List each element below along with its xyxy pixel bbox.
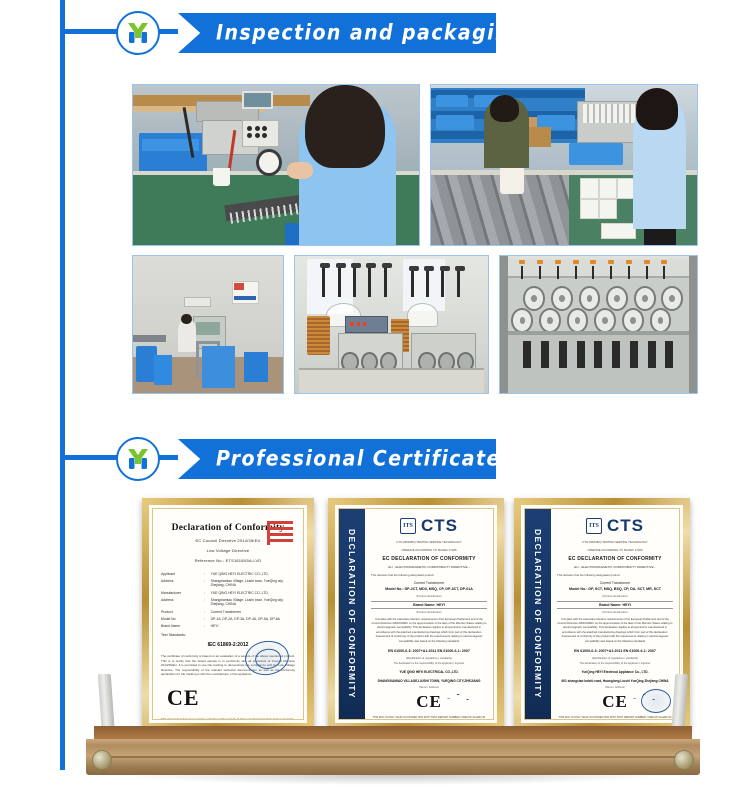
official-stamp-icon bbox=[641, 689, 671, 713]
its-mark-icon: ITS bbox=[586, 518, 602, 534]
cert-product: Current Transformer bbox=[557, 581, 673, 585]
cert-standards-caption: (Identification of regulations / standar… bbox=[371, 657, 487, 660]
cert-cts-emc-cp-series-page: DECLARATION OF CONFORMITY ITS CTS CTS (N… bbox=[524, 508, 680, 720]
its-mark-icon: ITS bbox=[400, 518, 416, 534]
photo-packaging-line-scene bbox=[431, 85, 697, 245]
shelf-top-surface bbox=[94, 726, 692, 739]
cert-standards: EN 61000-6-3: 2007+A1:2011 EN 61000-6-1:… bbox=[557, 649, 673, 654]
section-banner-inspection: Inspection and packaging bbox=[178, 13, 496, 53]
shelf-cap-right bbox=[674, 750, 694, 770]
photo-row-top bbox=[132, 84, 698, 246]
row-key: Manufacturer bbox=[161, 591, 204, 595]
cts-org-line-2: OPERATE ACCORDING TO ISO/IEC 17025 bbox=[371, 548, 487, 552]
row-value: Current Transformer bbox=[211, 610, 295, 614]
section-title-inspection: Inspection and packaging bbox=[178, 21, 525, 46]
cert-company: YueQing HEYI Electrical Appliance Co., L… bbox=[557, 670, 673, 675]
photo-grid bbox=[132, 84, 698, 394]
cert-standards-caption: (Identification of regulations / standar… bbox=[557, 657, 673, 660]
section-title-certificates: Professional Certificates bbox=[178, 447, 514, 472]
cert-product-caption: (Product identification) bbox=[371, 595, 487, 598]
photo-inspection-testing-scene bbox=[133, 85, 419, 245]
cert-body: ITS CTS CTS (NINGBO) TESTING SERVICE TEC… bbox=[551, 509, 679, 719]
cert-cts-emc-dp-series[interactable]: DECLARATION OF CONFORMITY ITS CTS CTS (N… bbox=[328, 498, 504, 730]
photo-packaging-line bbox=[430, 84, 698, 246]
cert-company-address: 601 shangxiao kaishi road, Huanglong Liu… bbox=[557, 679, 673, 684]
shelf-shadow bbox=[126, 775, 660, 785]
table-row: Address:Shangxiamiao Village, Liushi tow… bbox=[161, 579, 295, 587]
cert-note: This declares that the following designa… bbox=[557, 573, 673, 577]
cert-responsible-note: The declaration is the responsibility of… bbox=[557, 662, 673, 665]
display-shelf bbox=[86, 726, 700, 788]
cts-wordmark: CTS bbox=[421, 516, 458, 536]
cert-product-caption: (Product identification) bbox=[557, 595, 673, 598]
cert-body-paragraph: Complies with the essential protection r… bbox=[371, 618, 487, 645]
cert-heading: EC DECLARATION OF CONFORMITY bbox=[371, 556, 487, 562]
cts-org-line-1: CTS (NINGBO) TESTING SERVICE TECHNOLOGY bbox=[371, 540, 487, 544]
cert-brand: Brand Name: HEYI bbox=[557, 601, 673, 609]
section-banner-certificates: Professional Certificates bbox=[178, 439, 496, 479]
cert-field-table: Applicant:YUE QING HEYI ELECTRIC CO.,LTD… bbox=[161, 572, 295, 628]
cert-validity-note: THIS DOC IS ONLY VALID IN CONNECTION WIT… bbox=[557, 716, 673, 719]
table-row: Product:Current Transformer bbox=[161, 610, 295, 614]
photo-multi-spindle-winder bbox=[499, 255, 698, 394]
row-value: HEYI bbox=[211, 624, 295, 628]
cert-company-address: SHANGXIAMIAO VILLAGE,LIUSHI TOWN, YUEQIN… bbox=[371, 679, 487, 684]
page-root: Inspection and packaging bbox=[0, 0, 750, 804]
row-key: Brand Name bbox=[161, 624, 204, 628]
certificate-gallery: Declaration of Conformity EC Council Dir… bbox=[132, 498, 698, 738]
cert-standards: EN 61000-6-3: 2007+A1:2011 EN 61000-6-1:… bbox=[371, 649, 487, 654]
row-value: YUE QING HEYI ELECTRIC CO.,LTD. bbox=[211, 591, 295, 595]
photo-inspection-testing bbox=[132, 84, 420, 246]
row-key: Address bbox=[161, 579, 204, 587]
row-key: Applicant bbox=[161, 572, 204, 576]
table-row: Manufacturer:YUE QING HEYI ELECTRIC CO.,… bbox=[161, 591, 295, 595]
left-rail bbox=[60, 0, 65, 770]
lvd-mark-icon bbox=[267, 521, 293, 545]
photo-testing-room bbox=[132, 255, 284, 394]
cts-org-line-1: CTS (NINGBO) TESTING SERVICE TECHNOLOGY bbox=[557, 540, 673, 544]
cert-directive: EU - ELECTROMAGNETIC COMPATIBILITY DIREC… bbox=[371, 565, 487, 569]
cert-brand: Brand Name: HEYI bbox=[371, 601, 487, 609]
photo-winding-machines bbox=[294, 255, 488, 394]
cert-side-band: DECLARATION OF CONFORMITY bbox=[339, 509, 365, 719]
shelf-cap-left bbox=[92, 750, 112, 770]
company-logo-icon bbox=[116, 11, 160, 55]
cts-wordmark: CTS bbox=[607, 516, 644, 536]
cert-brand-caption: (Product identification) bbox=[557, 611, 673, 614]
cert-responsible-note: The declaration is the responsibility of… bbox=[371, 662, 487, 665]
cert-standards-label: Test Standards: bbox=[161, 633, 303, 637]
cert-note: This declares that the following designa… bbox=[371, 573, 487, 577]
table-row: Address:Shangxiamiao Village, Liushi tow… bbox=[161, 598, 295, 606]
table-row: Model No.:DP-1A, DP-2A, DP-3A, DP-4A, DP… bbox=[161, 617, 295, 621]
photo-multi-spindle-winder-scene bbox=[500, 256, 697, 393]
row-key: Address bbox=[161, 598, 204, 606]
row-key: Product bbox=[161, 610, 204, 614]
row-value: Shangxiamiao Village, Liushi town, YueQi… bbox=[211, 598, 295, 606]
cert-declaration-of-conformity-page: Declaration of Conformity EC Council Dir… bbox=[152, 508, 304, 720]
cert-model: Model No.: DP-2CT, MD3, MSQ, CP, DP-3CT,… bbox=[371, 587, 487, 592]
cts-logo: ITS CTS bbox=[557, 516, 673, 536]
cert-footer-note: This document is based on a single evalu… bbox=[161, 717, 295, 720]
cert-company: YUE QING HEYI ELECTRICAL CO.,LTD. bbox=[371, 670, 487, 675]
cert-brand-caption: (Product identification) bbox=[371, 611, 487, 614]
row-value: Shangxiamiao Village, Liushi town, YueQi… bbox=[211, 579, 295, 587]
photo-row-bottom bbox=[132, 255, 698, 394]
row-value: YUE QING HEYI ELECTRIC CO.,LTD. bbox=[211, 572, 295, 576]
cert-heading: EC DECLARATION OF CONFORMITY bbox=[557, 556, 673, 562]
cert-product: Current Transformer bbox=[371, 581, 487, 585]
cts-org-line-2: OPERATE ACCORDING TO ISO/IEC 17025 bbox=[557, 548, 673, 552]
cert-model: Model No.: DP, SCT, MSQ, BSQ, CP, DA, SC… bbox=[557, 587, 673, 592]
company-logo-icon bbox=[116, 437, 160, 481]
cert-validity-note: THIS DOC IS ONLY VALID IN CONNECTION WIT… bbox=[371, 716, 487, 719]
cts-logo: ITS CTS bbox=[371, 516, 487, 536]
cert-cts-emc-cp-series[interactable]: DECLARATION OF CONFORMITY ITS CTS CTS (N… bbox=[514, 498, 690, 730]
shelf-groove bbox=[104, 756, 682, 758]
row-value: DP-1A, DP-2A, DP-3A, DP-4A, DP-5A, DP-6A bbox=[211, 617, 295, 621]
photo-testing-room-scene bbox=[133, 256, 283, 393]
cert-side-band: DECLARATION OF CONFORMITY bbox=[525, 509, 551, 719]
ce-mark-icon: CE bbox=[167, 685, 303, 711]
cert-declaration-of-conformity[interactable]: Declaration of Conformity EC Council Dir… bbox=[142, 498, 314, 730]
handwritten-signature-icon bbox=[441, 691, 479, 703]
table-row: Brand Name:HEYI bbox=[161, 624, 295, 628]
cert-company-caption: (Name / Address) bbox=[371, 686, 487, 689]
table-row: Applicant:YUE QING HEYI ELECTRIC CO.,LTD… bbox=[161, 572, 295, 576]
row-key: Model No. bbox=[161, 617, 204, 621]
cert-side-text: DECLARATION OF CONFORMITY bbox=[533, 529, 543, 699]
photo-winding-machines-scene bbox=[295, 256, 487, 393]
cert-side-text: DECLARATION OF CONFORMITY bbox=[347, 529, 357, 699]
cert-cts-emc-dp-series-page: DECLARATION OF CONFORMITY ITS CTS CTS (N… bbox=[338, 508, 494, 720]
cert-directive-name: Low Voltage Directive bbox=[153, 548, 303, 553]
cert-reference-no: Reference No.: ETS1618X5A-LVD bbox=[153, 558, 303, 563]
cert-body: ITS CTS CTS (NINGBO) TESTING SERVICE TEC… bbox=[365, 509, 493, 719]
cert-directive: EU - ELECTROMAGNETIC COMPATIBILITY DIREC… bbox=[557, 565, 673, 569]
cert-body-paragraph: Complies with the essential protection r… bbox=[557, 618, 673, 645]
